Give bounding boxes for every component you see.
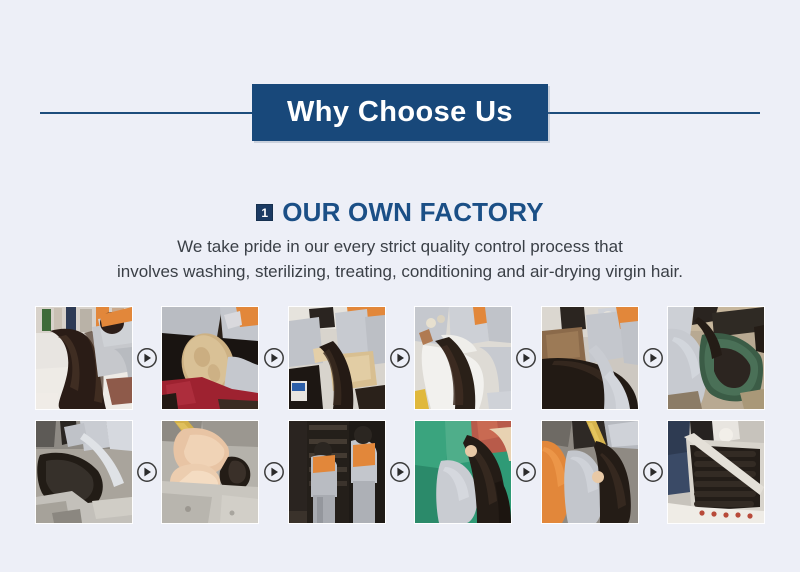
arrow-right-circle-icon [389,347,411,369]
process-image-2-1 [36,421,132,523]
process-image-2-5 [542,421,638,523]
page-title: Why Choose Us [252,84,548,141]
process-image-1-1 [36,307,132,409]
arrow-right-circle-icon [515,461,537,483]
step-number-badge: 1 [256,204,273,221]
arrow-right-circle-icon [389,461,411,483]
process-row-1 [36,307,764,409]
process-image-2-6 [668,421,764,523]
page-banner: Why Choose Us [0,84,800,142]
arrow-right-circle-icon [136,347,158,369]
process-image-1-6 [668,307,764,409]
process-row-2 [36,421,764,523]
arrow-right-circle-icon [263,461,285,483]
process-image-1-5 [542,307,638,409]
arrow-right-circle-icon [642,461,664,483]
process-image-2-3 [289,421,385,523]
description-line-2: involves washing, sterilizing, treating,… [0,259,800,284]
arrow-right-circle-icon [515,347,537,369]
section-title: OUR OWN FACTORY [282,197,544,228]
process-image-2-2 [162,421,258,523]
process-image-1-3 [289,307,385,409]
process-image-1-2 [162,307,258,409]
section-heading: 1 OUR OWN FACTORY [0,196,800,228]
arrow-right-circle-icon [136,461,158,483]
arrow-right-circle-icon [642,347,664,369]
banner-title-box: Why Choose Us [252,84,548,141]
arrow-right-circle-icon [263,347,285,369]
section-description: We take pride in our every strict qualit… [0,234,800,284]
process-image-1-4 [415,307,511,409]
description-line-1: We take pride in our every strict qualit… [0,234,800,259]
process-image-2-4 [415,421,511,523]
